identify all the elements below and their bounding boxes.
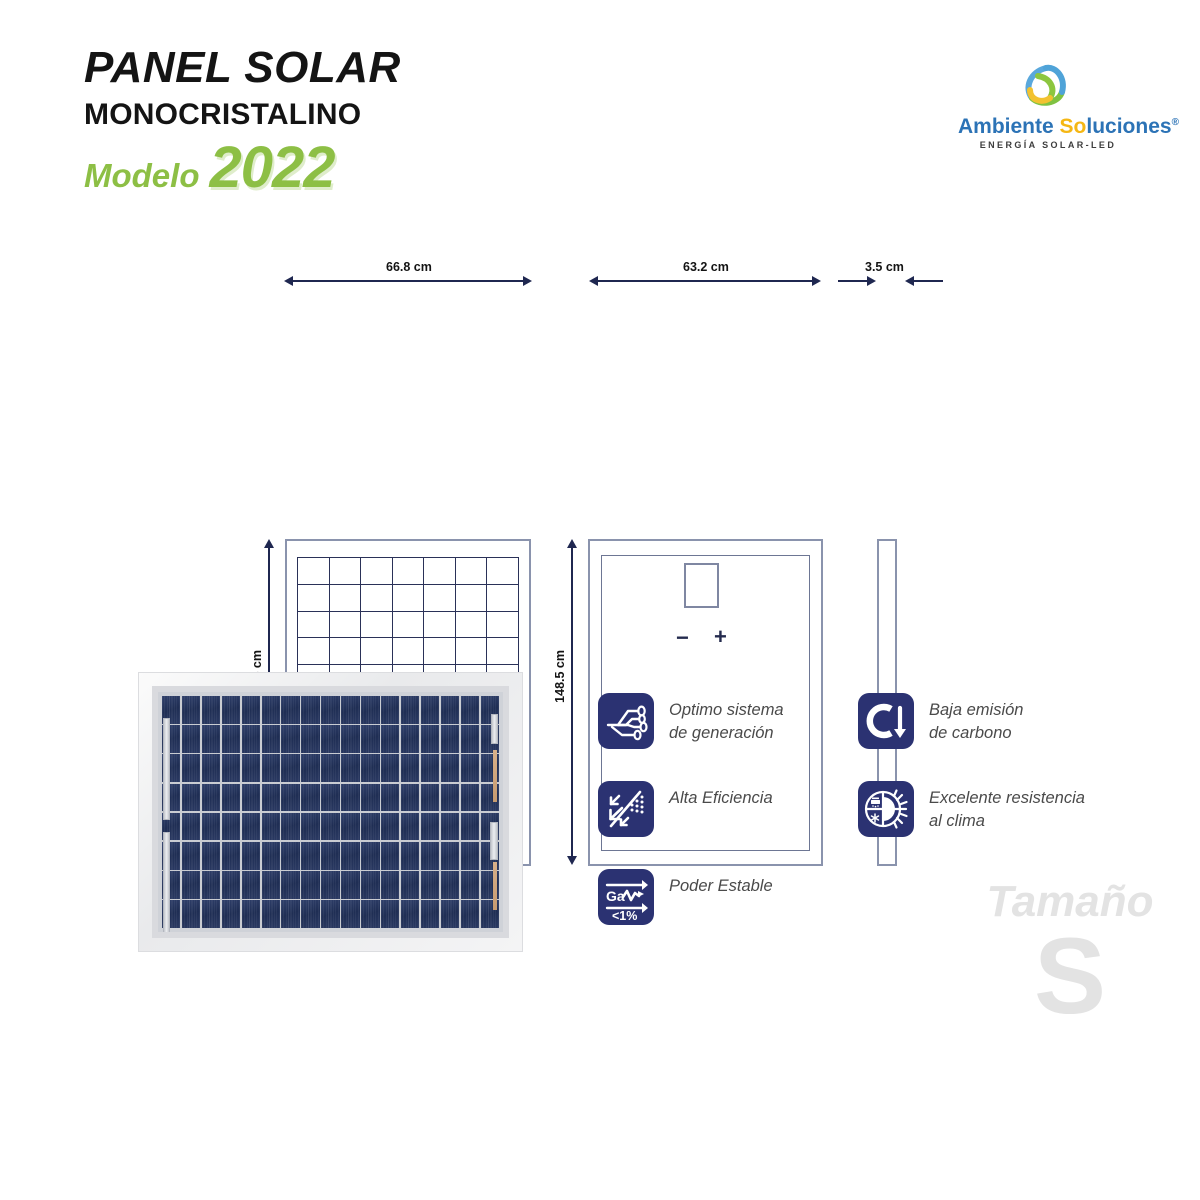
front-width-arrow-line — [292, 280, 524, 282]
logo-tagline: ENERGÍA SOLAR-LED — [958, 140, 1138, 150]
feature-label-optimo-sistema: Optimo sistema de generación — [669, 693, 784, 745]
solar-panel-product-photo — [138, 672, 523, 952]
back-width-arrow-line — [597, 280, 813, 282]
stable-power-ga-icon: Ga <1% — [598, 869, 654, 925]
side-arrow-left-head — [905, 276, 914, 286]
busbar-right-upper — [491, 714, 498, 744]
feature-label-alta-eficiencia: Alta Eficiencia — [669, 781, 773, 810]
busbar-left-upper — [163, 718, 170, 820]
front-width-arrow-right — [523, 276, 532, 286]
back-height-dimension-label: 148.5 cm — [553, 650, 567, 703]
logo-word-so: So — [1060, 115, 1087, 138]
logo-wordmark: Ambiente Soluciones® — [958, 116, 1138, 137]
feature-baja-emision-carbono: Baja emisión de carbono — [858, 693, 1023, 749]
panel-cell-grid — [162, 696, 499, 928]
model-label: Modelo — [84, 159, 199, 192]
front-width-dimension-label: 66.8 cm — [386, 260, 432, 274]
size-watermark-letter: S — [955, 926, 1185, 1025]
feature-label-line1: Optimo sistema — [669, 699, 784, 722]
feature-poder-estable: Ga <1% Poder Estable — [598, 869, 773, 925]
feature-resistencia-clima: Excelente resistencia al clima — [858, 781, 1085, 837]
feature-label-line2: de generación — [669, 722, 784, 745]
page-title-secondary: MONOCRISTALINO — [84, 100, 604, 130]
busbar-right-lower — [490, 822, 498, 860]
side-arrow-line-left — [838, 280, 868, 282]
back-height-arrow-up — [567, 539, 577, 548]
model-line: Modelo 2022 — [84, 142, 604, 194]
tab-ribbon-lower — [493, 862, 497, 910]
back-width-dimension-label: 63.2 cm — [683, 260, 729, 274]
feature-label-line2: al clima — [929, 810, 1085, 833]
busbar-left-lower — [163, 832, 170, 934]
circuit-branching-icon — [598, 693, 654, 749]
feature-optimo-sistema: Optimo sistema de generación — [598, 693, 784, 749]
terminal-positive-symbol: + — [714, 626, 727, 648]
carbon-down-arrow-icon — [858, 693, 914, 749]
page-title-primary: PANEL SOLAR — [84, 46, 604, 90]
side-arrow-right-head — [867, 276, 876, 286]
feature-alta-eficiencia: Alta Eficiencia — [598, 781, 773, 837]
back-width-arrow-right — [812, 276, 821, 286]
header-block: PANEL SOLAR MONOCRISTALINO Modelo 2022 — [84, 46, 604, 194]
feature-label-poder-estable: Poder Estable — [669, 869, 773, 898]
icon-text-percent: <1% — [612, 909, 637, 923]
panel-frame — [152, 686, 509, 938]
registered-mark: ® — [1172, 117, 1179, 128]
feature-label-resistencia-clima: Excelente resistencia al clima — [929, 781, 1085, 833]
icon-text-ga: Ga — [606, 888, 625, 904]
front-width-arrow-left — [284, 276, 293, 286]
front-height-arrow-up — [264, 539, 274, 548]
feature-label-baja-emision: Baja emisión de carbono — [929, 693, 1023, 745]
light-absorption-arrows-icon — [598, 781, 654, 837]
technical-drawings: 66.8 cm 148.5 cm 63.2 cm 148.5 cm − + 3.… — [0, 250, 1200, 650]
logo-word-luciones: luciones — [1086, 115, 1171, 138]
junction-box — [684, 563, 719, 608]
feature-label-line1: Baja emisión — [929, 699, 1023, 722]
feature-label-line1: Alta Eficiencia — [669, 787, 773, 810]
ambiente-soluciones-trefoil-icon — [1016, 62, 1080, 112]
feature-label-line1: Excelente resistencia — [929, 787, 1085, 810]
back-width-arrow-left — [589, 276, 598, 286]
side-thickness-dimension-label: 3.5 cm — [865, 260, 904, 274]
feature-label-line1: Poder Estable — [669, 875, 773, 898]
back-height-arrow-line — [571, 547, 573, 857]
weather-resistance-icon — [858, 781, 914, 837]
feature-label-line2: de carbono — [929, 722, 1023, 745]
logo-word-ambiente: Ambiente — [958, 115, 1060, 138]
brand-logo: Ambiente Soluciones® ENERGÍA SOLAR-LED — [958, 62, 1138, 150]
tab-ribbon-upper — [493, 750, 497, 802]
size-watermark: Tamaño S — [955, 880, 1185, 1025]
side-arrow-line-right — [913, 280, 943, 282]
back-height-arrow-down — [567, 856, 577, 865]
terminal-negative-symbol: − — [676, 627, 689, 649]
model-year: 2022 — [209, 142, 334, 194]
